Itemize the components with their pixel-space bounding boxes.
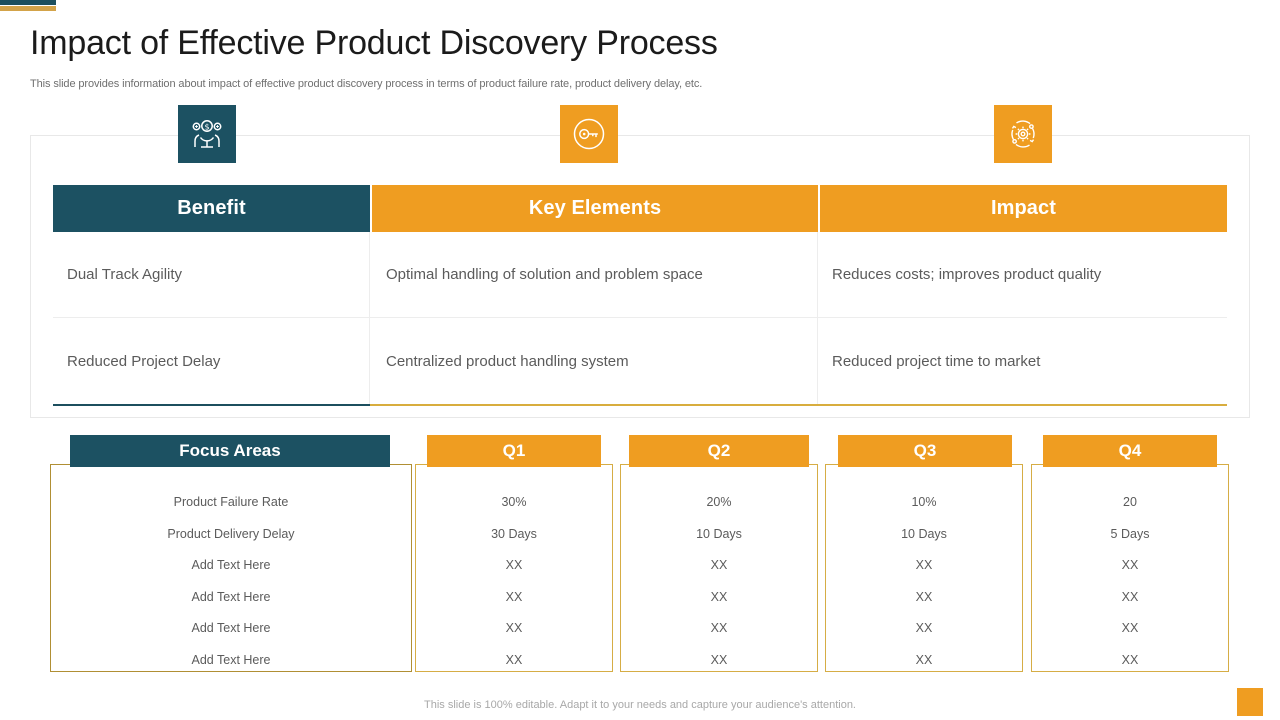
list-item: 20 (1123, 487, 1137, 519)
benefits-table-header-row: Benefit Key Elements Impact (53, 185, 1227, 232)
list-item: 10% (911, 487, 936, 519)
list-item: Product Delivery Delay (167, 519, 294, 551)
list-item: XX (1122, 550, 1139, 582)
list-item: XX (1122, 645, 1139, 677)
list-item: XX (506, 582, 523, 614)
quarter-header-q3: Q3 (838, 435, 1012, 467)
list-item: XX (711, 645, 728, 677)
list-item: 10 Days (901, 519, 947, 551)
cell-key-elements: Centralized product handling system (370, 318, 818, 404)
list-item: XX (1122, 582, 1139, 614)
column-header-key-elements: Key Elements (372, 185, 818, 232)
list-item: XX (916, 550, 933, 582)
cell-key-elements: Optimal handling of solution and problem… (370, 232, 818, 317)
list-item: XX (711, 582, 728, 614)
page-subtitle: This slide provides information about im… (30, 78, 1210, 90)
list-item: 30 Days (491, 519, 537, 551)
list-item: XX (506, 613, 523, 645)
list-item: XX (506, 645, 523, 677)
list-item: Product Failure Rate (174, 487, 289, 519)
list-item: 10 Days (696, 519, 742, 551)
focus-areas-list: Product Failure Rate Product Delivery De… (50, 478, 412, 676)
slide-canvas: Impact of Effective Product Discovery Pr… (0, 0, 1280, 720)
svg-text:$: $ (204, 123, 209, 132)
quarter-values-q3: 10% 10 Days XX XX XX XX (825, 478, 1023, 676)
cell-benefit: Dual Track Agility (53, 232, 370, 317)
list-item: XX (916, 645, 933, 677)
hands-holding-money-icon: $ (178, 105, 236, 163)
cell-benefit: Reduced Project Delay (53, 318, 370, 404)
table-row: Reduced Project Delay Centralized produc… (53, 318, 1227, 404)
quarter-header-q1: Q1 (427, 435, 601, 467)
footer-note: This slide is 100% editable. Adapt it to… (0, 699, 1280, 711)
cell-impact: Reduced project time to market (818, 318, 1227, 404)
quarter-header-q4: Q4 (1043, 435, 1217, 467)
column-header-benefit: Benefit (53, 185, 370, 232)
list-item: 5 Days (1111, 519, 1150, 551)
list-item: 30% (501, 487, 526, 519)
list-item: XX (711, 613, 728, 645)
list-item: XX (506, 550, 523, 582)
decor-bar-gold (0, 6, 56, 11)
benefits-table: Benefit Key Elements Impact Dual Track A… (53, 185, 1227, 407)
page-title: Impact of Effective Product Discovery Pr… (30, 24, 1250, 63)
column-header-impact: Impact (820, 185, 1227, 232)
decor-bar-teal (0, 0, 56, 5)
benefits-table-bottom-rule (53, 404, 1227, 407)
list-item: XX (916, 613, 933, 645)
list-item: Add Text Here (192, 613, 271, 645)
quarter-values-q4: 20 5 Days XX XX XX XX (1031, 478, 1229, 676)
cell-impact: Reduces costs; improves product quality (818, 232, 1227, 317)
list-item: Add Text Here (192, 645, 271, 677)
focus-areas-header: Focus Areas (70, 435, 390, 467)
quarter-header-q2: Q2 (629, 435, 809, 467)
key-circle-icon (560, 105, 618, 163)
list-item: XX (1122, 613, 1139, 645)
quarter-values-q1: 30% 30 Days XX XX XX XX (415, 478, 613, 676)
list-item: XX (711, 550, 728, 582)
list-item: Add Text Here (192, 550, 271, 582)
list-item: XX (916, 582, 933, 614)
quarter-values-q2: 20% 10 Days XX XX XX XX (620, 478, 818, 676)
gear-process-cycle-icon (994, 105, 1052, 163)
list-item: 20% (706, 487, 731, 519)
list-item: Add Text Here (192, 582, 271, 614)
table-row: Dual Track Agility Optimal handling of s… (53, 232, 1227, 318)
